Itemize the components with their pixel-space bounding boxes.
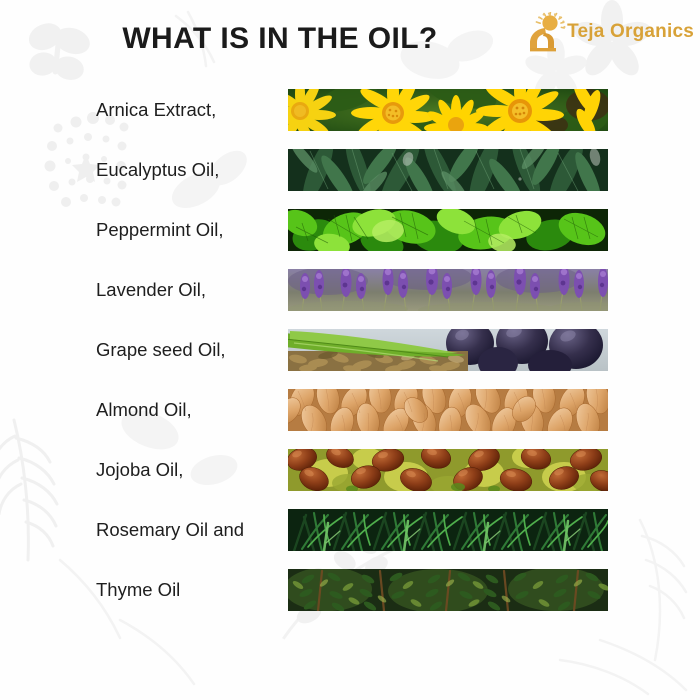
thyme-sprigs-strip: [288, 569, 608, 611]
sun-person-icon: [524, 12, 566, 52]
page-title: WHAT IS IN THE OIL?: [0, 22, 560, 56]
list-item: Grape seed Oil,: [0, 320, 700, 380]
brand-logo[interactable]: Teja Organics: [524, 10, 694, 54]
arnica-flowers-strip: [288, 89, 608, 131]
list-item: Thyme Oil: [0, 560, 700, 620]
ingredient-label: Thyme Oil: [96, 579, 296, 601]
infographic-card: WHAT IS IN THE OIL?: [0, 0, 700, 700]
list-item: Peppermint Oil,: [0, 200, 700, 260]
list-item: Arnica Extract,: [0, 80, 700, 140]
list-item: Jojoba Oil,: [0, 440, 700, 500]
ingredient-list: Arnica Extract,: [0, 80, 700, 620]
ingredient-label: Rosemary Oil and: [96, 519, 296, 541]
list-item: Almond Oil,: [0, 380, 700, 440]
ingredient-label: Arnica Extract,: [96, 99, 296, 121]
ingredient-label: Grape seed Oil,: [96, 339, 296, 361]
list-item: Eucalyptus Oil,: [0, 140, 700, 200]
rosemary-sprigs-strip: [288, 509, 608, 551]
jojoba-seeds-strip: [288, 449, 608, 491]
ingredient-label: Almond Oil,: [96, 399, 296, 421]
peppermint-leaves-strip: [288, 209, 608, 251]
list-item: Rosemary Oil and: [0, 500, 700, 560]
ingredient-label: Jojoba Oil,: [96, 459, 296, 481]
ingredient-label: Lavender Oil,: [96, 279, 296, 301]
lavender-flowers-strip: [288, 269, 608, 311]
eucalyptus-leaves-strip: [288, 149, 608, 191]
almonds-strip: [288, 389, 608, 431]
brand-name: Teja Organics: [567, 21, 694, 43]
header: WHAT IS IN THE OIL?: [0, 0, 700, 72]
ingredient-label: Peppermint Oil,: [96, 219, 296, 241]
grapeseed-grapes-strip: [288, 329, 608, 371]
list-item: Lavender Oil,: [0, 260, 700, 320]
ingredient-label: Eucalyptus Oil,: [96, 159, 296, 181]
